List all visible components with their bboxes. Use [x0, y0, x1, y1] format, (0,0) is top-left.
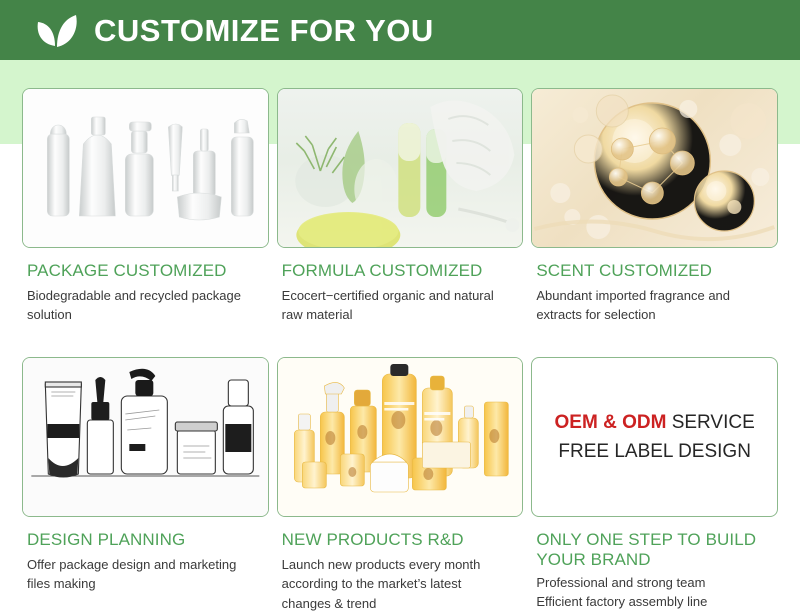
card-image-design: [22, 357, 269, 517]
features-row-2: DESIGN PLANNING Offer package design and…: [0, 335, 800, 613]
page-title: CUSTOMIZE FOR YOU: [94, 15, 434, 46]
card-title: PACKAGE CUSTOMIZED: [27, 261, 269, 281]
card-title: FORMULA CUSTOMIZED: [282, 261, 524, 281]
card-image-package: [22, 88, 269, 248]
card-one-step-brand[interactable]: OEM & ODM SERVICE FREE LABEL DESIGN ONLY…: [531, 335, 778, 613]
card-description: Launch new products every month accordin…: [282, 555, 514, 613]
card-title: NEW PRODUCTS R&D: [282, 530, 524, 550]
card-image-scent: [531, 88, 778, 248]
promo-line-1: OEM & ODM SERVICE: [555, 412, 755, 434]
card-new-products-rd[interactable]: NEW PRODUCTS R&D Launch new products eve…: [277, 335, 524, 613]
card-title: ONLY ONE STEP TO BUILD YOUR BRAND: [536, 530, 778, 569]
card-package-customized[interactable]: PACKAGE CUSTOMIZED Biodegradable and rec…: [22, 60, 269, 325]
card-title: SCENT CUSTOMIZED: [536, 261, 778, 281]
promo-line-2: FREE LABEL DESIGN: [558, 441, 751, 463]
promo-line-1-rest: SERVICE: [666, 412, 754, 433]
card-title: DESIGN PLANNING: [27, 530, 269, 550]
leaf-icon: [34, 10, 78, 50]
page-header: CUSTOMIZE FOR YOU: [0, 0, 800, 60]
card-design-planning[interactable]: DESIGN PLANNING Offer package design and…: [22, 335, 269, 613]
card-description: Professional and strong team Efficient f…: [536, 574, 768, 612]
card-description-line-1: Professional and strong team: [536, 574, 768, 593]
features-row-1: PACKAGE CUSTOMIZED Biodegradable and rec…: [0, 60, 800, 325]
card-scent-customized[interactable]: SCENT CUSTOMIZED Abundant imported fragr…: [531, 60, 778, 325]
card-description: Offer package design and marketing files…: [27, 555, 259, 594]
card-formula-customized[interactable]: FORMULA CUSTOMIZED Ecocert−certified org…: [277, 60, 524, 325]
card-image-formula: [277, 88, 524, 248]
promo-panel: OEM & ODM SERVICE FREE LABEL DESIGN: [531, 357, 778, 517]
card-description: Abundant imported fragrance and extracts…: [536, 286, 768, 325]
card-description: Ecocert−certified organic and natural ra…: [282, 286, 514, 325]
promo-highlight: OEM & ODM: [555, 412, 667, 433]
card-description: Biodegradable and recycled package solut…: [27, 286, 259, 325]
card-image-new-products: [277, 357, 524, 517]
card-description-line-2: Efficient factory assembly line: [536, 593, 768, 612]
